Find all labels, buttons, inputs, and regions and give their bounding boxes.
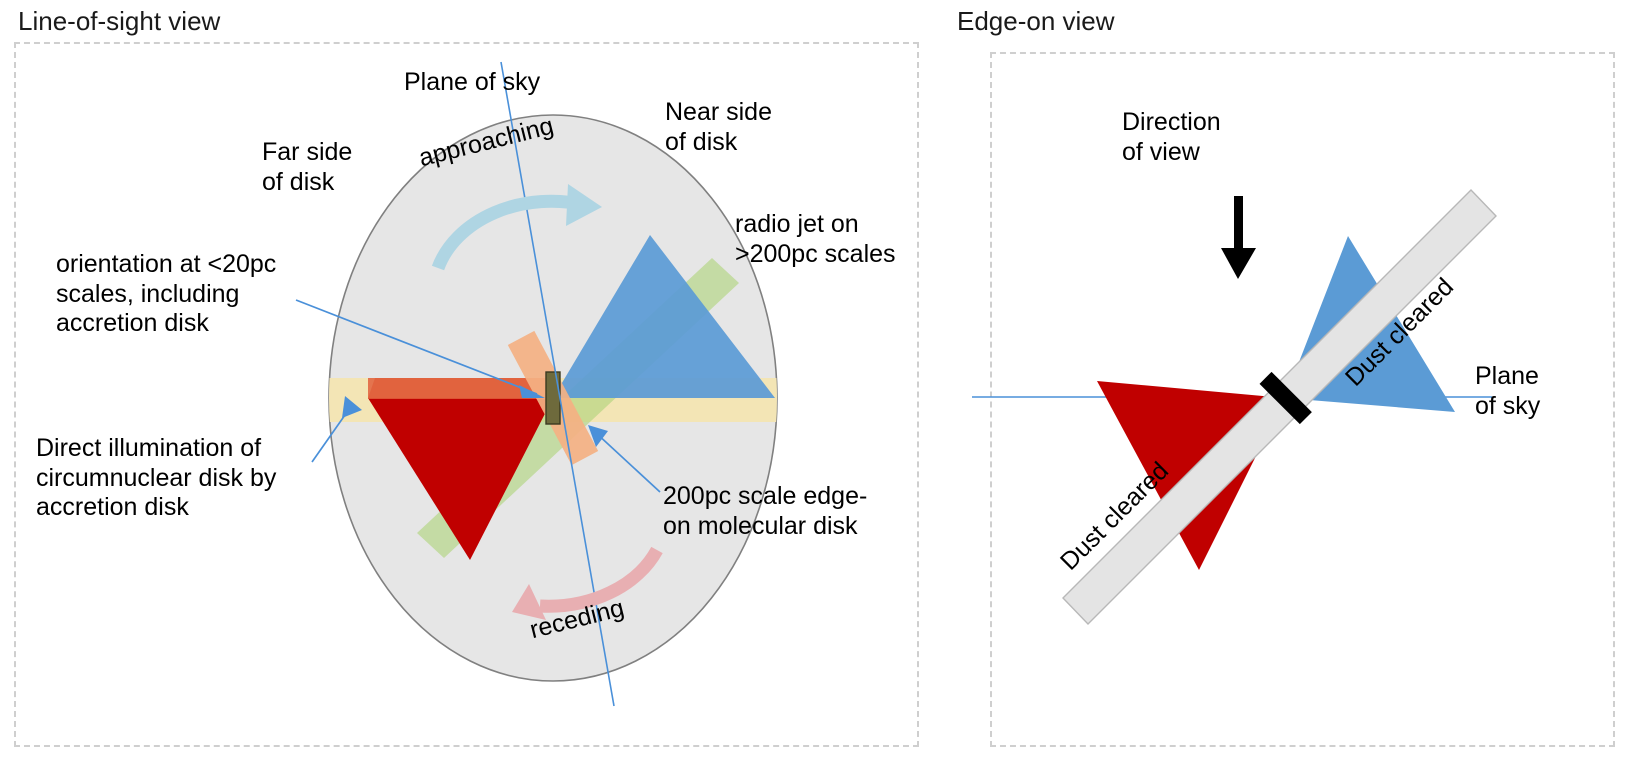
label-plane-of-sky-right: Plane of sky: [1475, 362, 1540, 421]
right-panel-figure: [0, 0, 1635, 765]
direction-of-view-arrow: [1221, 196, 1256, 279]
label-direction-of-view: Direction of view: [1122, 108, 1221, 167]
